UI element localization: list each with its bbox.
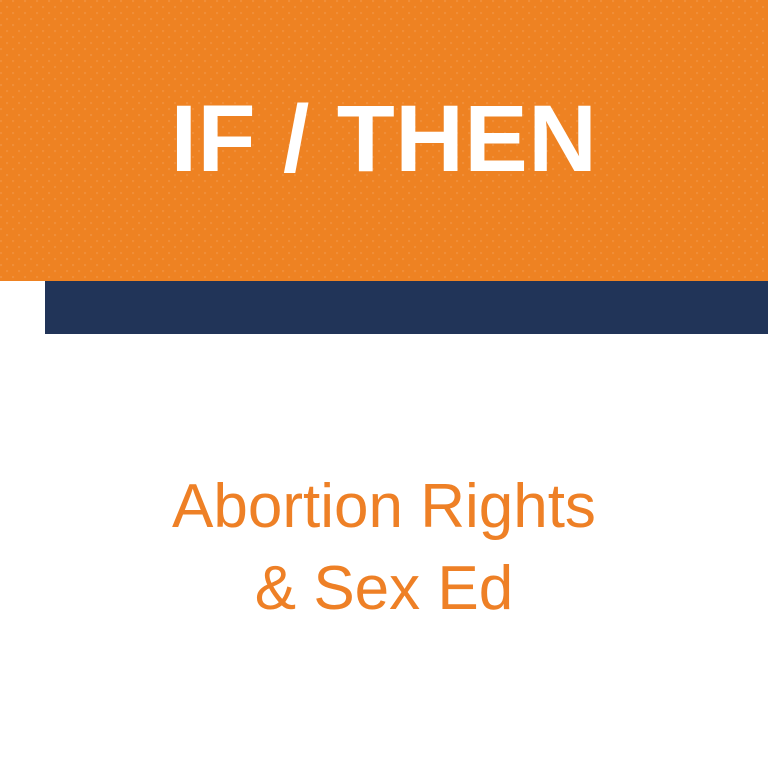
slide-canvas: IF / THEN Abortion Rights & Sex Ed	[0, 0, 768, 768]
title-banner: IF / THEN	[0, 0, 768, 281]
page-title: IF / THEN	[0, 84, 768, 194]
subtitle-line-2: & Sex Ed	[0, 548, 768, 630]
subtitle-line-1: Abortion Rights	[0, 466, 768, 548]
navy-divider-bar	[45, 281, 768, 334]
page-subtitle: Abortion Rights & Sex Ed	[0, 466, 768, 630]
